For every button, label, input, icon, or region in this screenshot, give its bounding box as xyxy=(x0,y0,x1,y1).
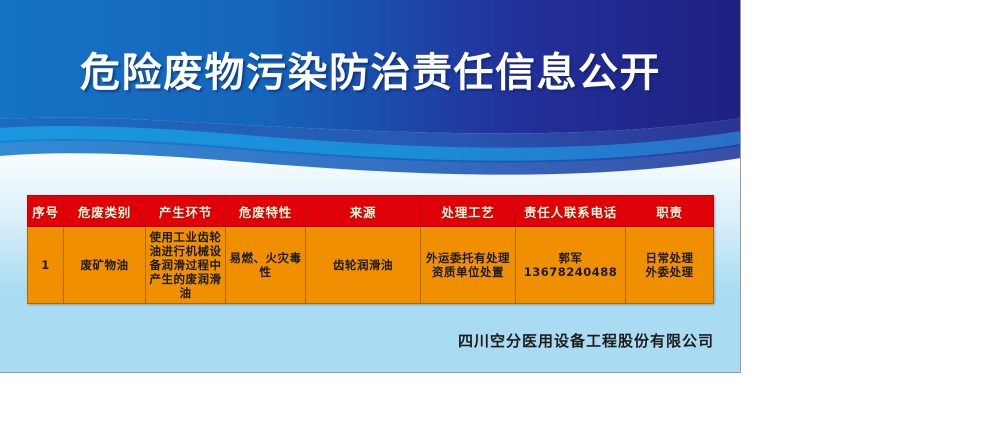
cell-stage: 使用工业齿轮油进行机械设备润滑过程中产生的废润滑油 xyxy=(146,227,226,304)
col-header-source: 来源 xyxy=(306,196,421,227)
cell-contact: 郭军 13678240488 xyxy=(516,227,626,304)
col-header-duty: 职责 xyxy=(626,196,714,227)
banner-header: 危险废物污染防治责任信息公开 xyxy=(0,0,741,175)
duty-line-1: 日常处理 xyxy=(629,251,710,265)
hazardous-waste-table: 序号 危废类别 产生环节 危废特性 来源 处理工艺 责任人联系电话 职责 1 废… xyxy=(27,195,714,304)
col-header-property: 危废特性 xyxy=(226,196,306,227)
col-header-index: 序号 xyxy=(28,196,64,227)
duty-line-2: 外委处理 xyxy=(629,265,710,279)
col-header-stage: 产生环节 xyxy=(146,196,226,227)
page-title: 危险废物污染防治责任信息公开 xyxy=(0,50,741,96)
cell-process: 外运委托有处理资质单位处置 xyxy=(421,227,516,304)
contact-name: 郭军 xyxy=(519,251,622,265)
cell-duty: 日常处理 外委处理 xyxy=(626,227,714,304)
table-header-row: 序号 危废类别 产生环节 危废特性 来源 处理工艺 责任人联系电话 职责 xyxy=(28,196,714,227)
col-header-process: 处理工艺 xyxy=(421,196,516,227)
cell-index: 1 xyxy=(28,227,64,304)
table-row: 1 废矿物油 使用工业齿轮油进行机械设备润滑过程中产生的废润滑油 易燃、火灾毒性… xyxy=(28,227,714,304)
poster-board: 危险废物污染防治责任信息公开 序号 危废类别 产生环节 危废特性 来源 处理工艺… xyxy=(0,0,741,373)
cell-category: 废矿物油 xyxy=(64,227,146,304)
col-header-category: 危废类别 xyxy=(64,196,146,227)
cell-property: 易燃、火灾毒性 xyxy=(226,227,306,304)
cell-source: 齿轮润滑油 xyxy=(306,227,421,304)
company-name-footer: 四川空分医用设备工程股份有限公司 xyxy=(0,330,714,351)
col-header-contact: 责任人联系电话 xyxy=(516,196,626,227)
contact-phone: 13678240488 xyxy=(519,265,622,279)
